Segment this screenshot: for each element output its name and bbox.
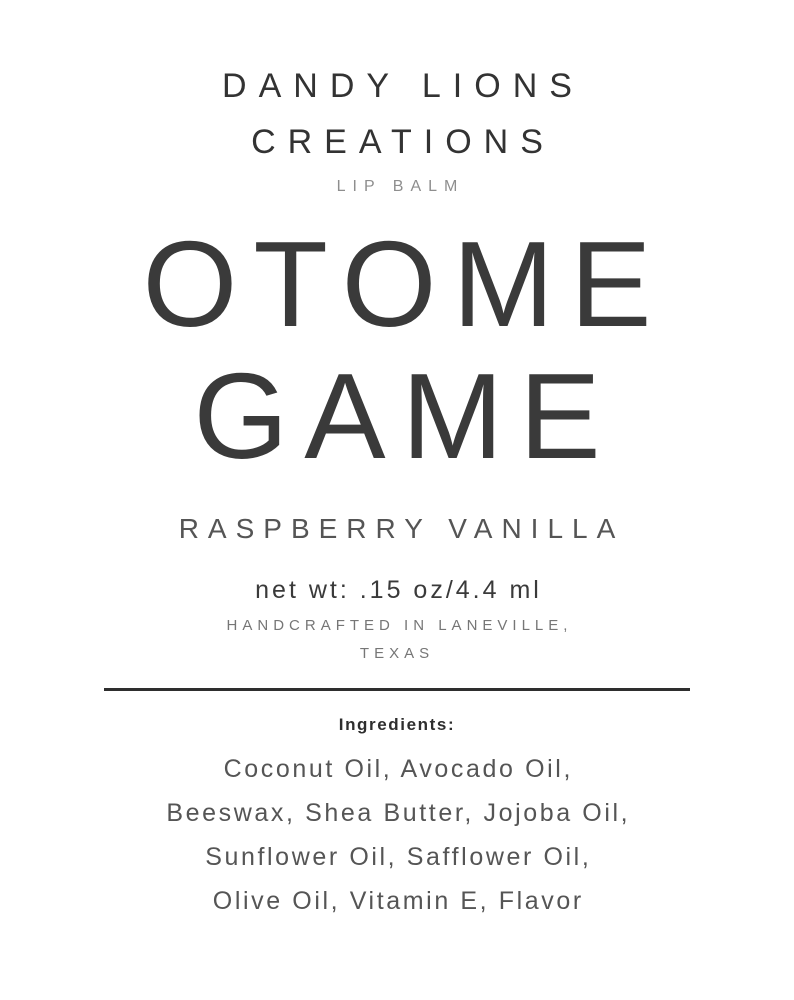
ingredients-list: Coconut Oil, Avocado Oil, Beeswax, Shea … (0, 747, 794, 923)
ingredients-heading: Ingredients: (0, 713, 794, 737)
product-details: net wt: .15 oz/4.4 ml HANDCRAFTED IN LAN… (0, 572, 794, 668)
ingredient-line: Beeswax, Shea Butter, Jojoba Oil, (0, 791, 794, 835)
flavor-label: RASPBERRY VANILLA (0, 508, 794, 550)
ingredient-line: Coconut Oil, Avocado Oil, (0, 747, 794, 791)
section-divider (104, 688, 690, 691)
brand-name-line-2: CREATIONS (0, 114, 794, 170)
ingredient-line: Sunflower Oil, Safflower Oil, (0, 835, 794, 879)
net-weight-label: net wt: .15 oz/4.4 ml (0, 572, 794, 608)
product-name-line-2: GAME (0, 350, 794, 482)
origin-label: HANDCRAFTED IN LANEVILLE, TEXAS (197, 612, 597, 668)
ingredient-line: Olive Oil, Vitamin E, Flavor (0, 879, 794, 923)
product-name-block: OTOME GAME (0, 218, 794, 482)
product-label: DANDY LIONS CREATIONS LIP BALM OTOME GAM… (0, 0, 794, 1000)
brand-header: DANDY LIONS CREATIONS LIP BALM (0, 0, 794, 200)
ingredients-section: Ingredients: Coconut Oil, Avocado Oil, B… (0, 713, 794, 923)
brand-name-line-1: DANDY LIONS (0, 58, 794, 114)
product-type-label: LIP BALM (0, 174, 794, 200)
product-name-line-1: OTOME (0, 218, 794, 350)
